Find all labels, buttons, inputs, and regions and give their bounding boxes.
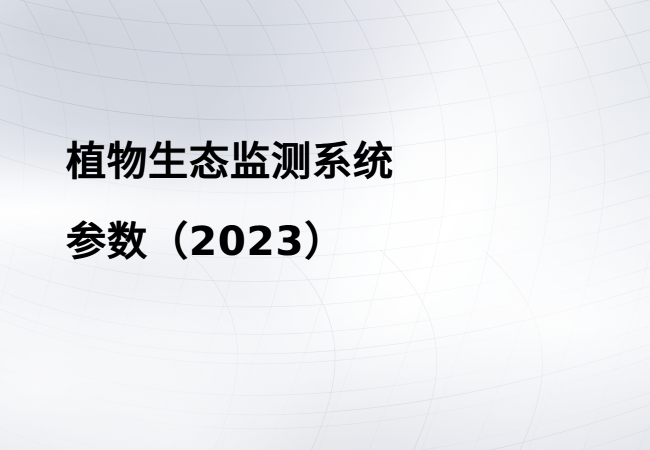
slide-title-line-1: 植物生态监测系统 — [66, 122, 586, 202]
slide-title-line-2: 参数（2023） — [66, 202, 586, 282]
slide-title-block: 植物生态监测系统 参数（2023） — [66, 122, 586, 282]
presentation-slide: 植物生态监测系统 参数（2023） — [0, 0, 650, 450]
